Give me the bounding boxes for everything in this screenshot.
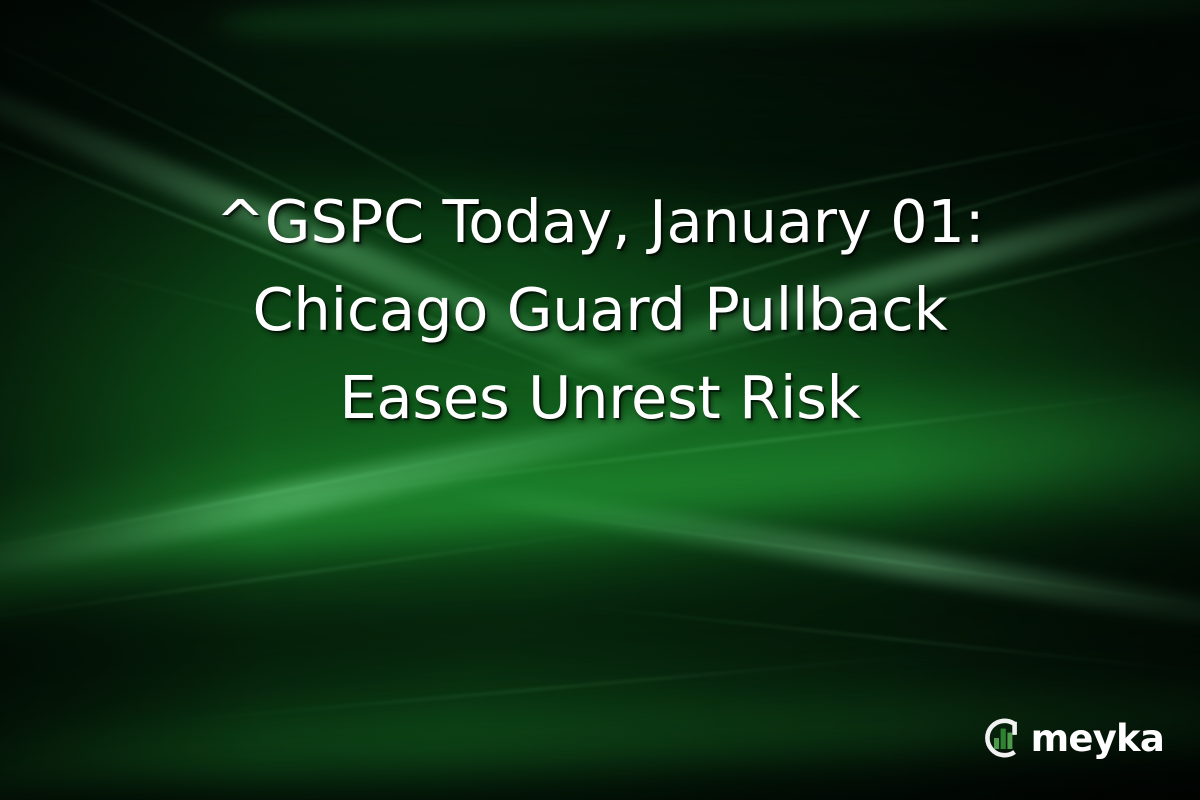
- meyka-circle-bar-chart-logo-icon: [981, 716, 1025, 760]
- headline-line-1: ^GSPC Today, January 01:: [60, 178, 1140, 266]
- background-wave-top-highlight: [215, 0, 1200, 53]
- logo-bar-1: [994, 738, 999, 749]
- background-streak-line-11: [530, 600, 1200, 682]
- logo-bar-3: [1007, 733, 1012, 749]
- meyka-wordmark: meyka: [1031, 720, 1164, 757]
- logo-bar-2: [1000, 729, 1005, 749]
- background-streak-line-13: [122, 651, 959, 726]
- background-streak-line-10: [460, 500, 1200, 622]
- headline-line-3: Eases Unrest Risk: [60, 354, 1140, 442]
- meyka-logo[interactable]: meyka: [981, 716, 1164, 760]
- background-streak-line-9: [0, 521, 668, 633]
- logo-ring-tick: [1012, 722, 1017, 735]
- banner-headline: ^GSPC Today, January 01: Chicago Guard P…: [0, 178, 1200, 442]
- article-banner-card: ^GSPC Today, January 01: Chicago Guard P…: [0, 0, 1200, 800]
- headline-line-2: Chicago Guard Pullback: [60, 266, 1140, 354]
- background-streak-broad-bottom-right: [436, 475, 1200, 657]
